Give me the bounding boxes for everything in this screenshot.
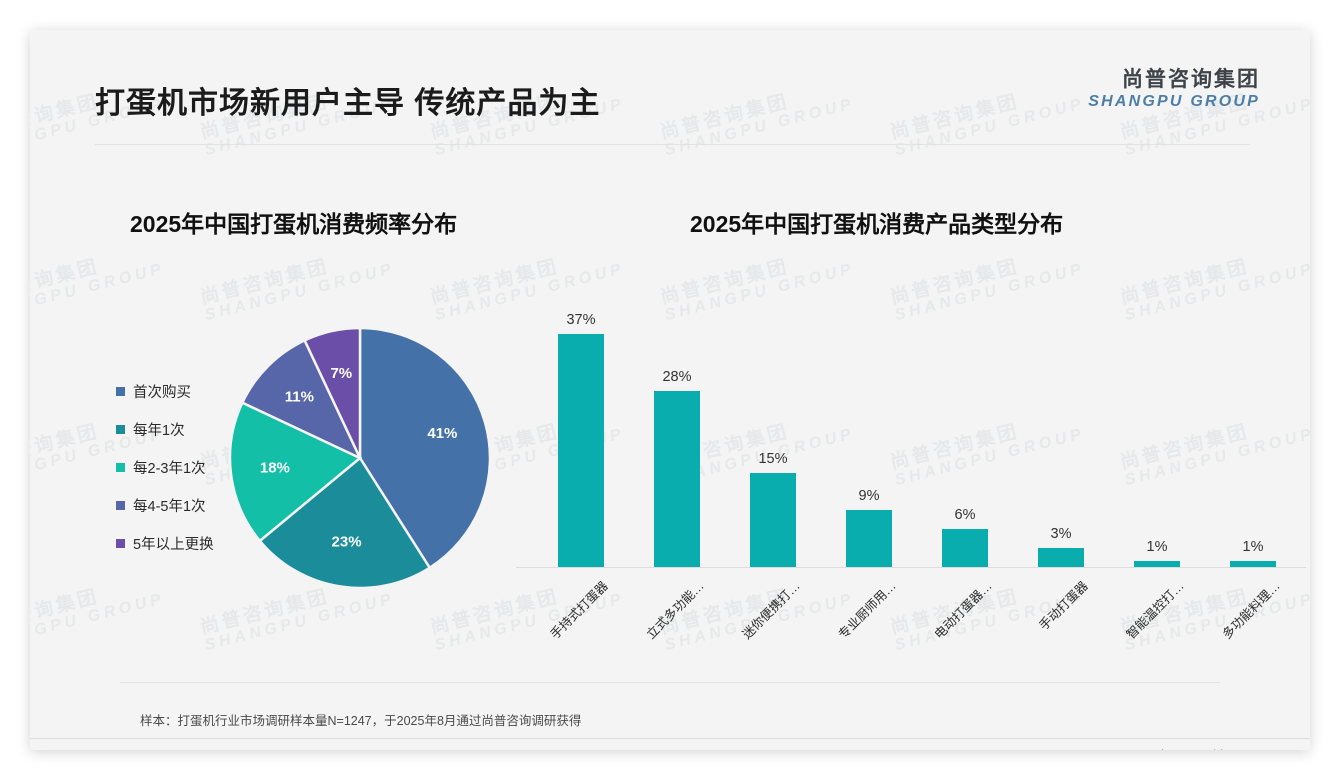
bar-chart-title: 2025年中国打蛋机消费产品类型分布: [690, 205, 1063, 239]
footer-website: www.shangpu-china.com: [1125, 748, 1264, 750]
legend-item[interactable]: 5年以上更换: [116, 524, 214, 562]
footnote-text: 样本：打蛋机行业市场调研样本量N=1247，于2025年8月通过尚普咨询调研获得: [140, 710, 581, 729]
legend-item-label: 首次购买: [133, 381, 191, 402]
legend-color-swatch: [116, 539, 125, 548]
legend-item-label: 每年1次: [133, 419, 185, 440]
slide-header: 打蛋机市场新用户主导 传统产品为主 尚普咨询集团 SHANGPU GROUP: [30, 30, 1310, 122]
pie-slice-value: 18%: [260, 460, 290, 477]
bar-category-label: 智能温控打…: [1121, 576, 1187, 642]
bar-column[interactable]: 28%: [654, 391, 700, 567]
legend-color-swatch: [116, 501, 125, 510]
bar-rect: [558, 334, 604, 567]
legend-item[interactable]: 每4-5年1次: [116, 486, 214, 524]
bar-rect: [1038, 548, 1084, 567]
bar-value-label: 15%: [758, 451, 787, 467]
footnote-divider: [120, 682, 1220, 683]
bar-column[interactable]: 9%: [846, 510, 892, 567]
footer-copyright: ©2025.10 SHANGPU GROUP: [76, 748, 245, 750]
bar-category-label: 手动打蛋器: [1034, 576, 1092, 634]
brand-name-en: SHANGPU GROUP: [1088, 92, 1260, 111]
bar-value-label: 6%: [955, 507, 976, 523]
legend-color-swatch: [116, 463, 125, 472]
bar-value-label: 9%: [859, 488, 880, 504]
bar-category-label: 专业厨师用…: [833, 576, 899, 642]
bar-category-label: 多功能料理…: [1217, 576, 1283, 642]
bar-value-label: 1%: [1243, 539, 1264, 555]
legend-color-swatch: [116, 387, 125, 396]
bar-rect: [750, 473, 796, 568]
legend-item[interactable]: 每2-3年1次: [116, 448, 214, 486]
pie-chart: 41%23%18%11%7%: [226, 324, 494, 592]
bar-value-label: 3%: [1051, 526, 1072, 542]
brand-logo: 尚普咨询集团 SHANGPU GROUP: [1088, 68, 1260, 111]
bar-value-label: 1%: [1147, 539, 1168, 555]
bar-axis-baseline: [516, 567, 1306, 568]
legend-item-label: 每2-3年1次: [133, 457, 206, 478]
pie-slice-value: 11%: [285, 388, 314, 405]
bar-category-label: 电动打蛋器…: [929, 576, 995, 642]
pie-legend: 首次购买每年1次每2-3年1次每4-5年1次5年以上更换: [116, 372, 214, 562]
header-divider: [95, 144, 1250, 145]
bar-value-label: 37%: [566, 312, 595, 328]
page-title: 打蛋机市场新用户主导 传统产品为主: [95, 78, 600, 122]
pie-slice-value: 7%: [330, 365, 352, 382]
bar-rect: [846, 510, 892, 567]
bar-category-label: 手持式打蛋器: [545, 576, 611, 642]
bar-chart: 37%28%15%9%6%3%1%1% 手持式打蛋器立式多功能…迷你便携打…专业…: [516, 280, 1306, 660]
slide-card: 尚普咨询集团SHANGPU GROUP尚普咨询集团SHANGPU GROUP尚普…: [30, 30, 1310, 750]
legend-item-label: 5年以上更换: [133, 533, 214, 554]
bar-column[interactable]: 6%: [942, 529, 988, 567]
legend-item[interactable]: 每年1次: [116, 410, 214, 448]
bar-category-label: 立式多功能…: [641, 576, 707, 642]
legend-item[interactable]: 首次购买: [116, 372, 214, 410]
bar-column[interactable]: 37%: [558, 334, 604, 567]
legend-item-label: 每4-5年1次: [133, 495, 206, 516]
footer-divider: [30, 738, 1310, 739]
bar-column[interactable]: 3%: [1038, 548, 1084, 567]
bar-plot-area: 37%28%15%9%6%3%1%1%: [516, 280, 1306, 568]
bar-value-label: 28%: [662, 369, 691, 385]
legend-color-swatch: [116, 425, 125, 434]
bar-rect: [654, 391, 700, 567]
bar-category-label: 迷你便携打…: [737, 576, 803, 642]
bar-column[interactable]: 15%: [750, 473, 796, 568]
brand-name-cn: 尚普咨询集团: [1088, 68, 1260, 92]
bar-rect: [942, 529, 988, 567]
pie-chart-title: 2025年中国打蛋机消费频率分布: [130, 205, 457, 239]
slide-content: 2025年中国打蛋机消费频率分布 首次购买每年1次每2-3年1次每4-5年1次5…: [30, 30, 1310, 750]
pie-slice-value: 41%: [427, 425, 457, 442]
pie-slice-value: 23%: [332, 534, 362, 551]
